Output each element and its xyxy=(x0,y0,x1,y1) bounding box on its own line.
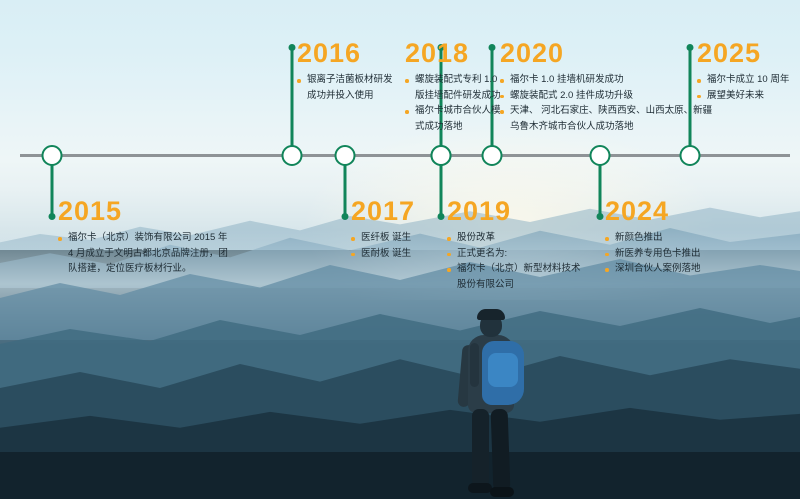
milestone-bullet: 天津、 河北石家庄、陕西西安、山西太原、新疆 xyxy=(500,104,712,119)
milestone-bullet-continuation: 乌鲁木齐城市合伙人成功落地 xyxy=(500,120,712,135)
milestone-year-label: 2017 xyxy=(351,196,415,226)
timeline-stem-dot-2024 xyxy=(597,213,604,220)
milestone-bullet: 股份改革 xyxy=(447,231,581,246)
hiker-cap xyxy=(477,309,505,320)
milestone-bullet: 银离子洁菌板材研发 xyxy=(297,73,393,88)
timeline-node-2019[interactable] xyxy=(431,145,452,166)
hiker-backpack-strap xyxy=(470,343,479,387)
hiker-boot-right xyxy=(490,487,514,497)
milestone-bullet: 螺旋装配式专利 1.0 xyxy=(405,73,501,88)
timeline-node-2020[interactable] xyxy=(482,145,503,166)
milestone-year-label: 2025 xyxy=(697,38,789,68)
milestone-bullet: 福尔卡（北京）装饰有限公司 2015 年 xyxy=(58,231,228,246)
milestone-bullet: 福尔卡（北京）新型材料技术 xyxy=(447,262,581,277)
milestone-bullet-list: 福尔卡 1.0 挂墙机研发成功螺旋装配式 2.0 挂件成功升级天津、 河北石家庄… xyxy=(500,73,712,134)
milestone-year-label: 2015 xyxy=(58,196,228,226)
milestone-bullet: 福尔卡城市合伙人模 xyxy=(405,104,501,119)
hiker-leg-left xyxy=(472,409,489,487)
timeline-node-2016[interactable] xyxy=(282,145,303,166)
hiker-backpack-panel xyxy=(488,353,518,387)
timeline-stem-dot-2019 xyxy=(438,213,445,220)
milestone-bullet-list: 福尔卡成立 10 周年展望美好未来 xyxy=(697,73,789,103)
milestone-bullet: 展望美好未来 xyxy=(697,89,789,104)
timeline-node-2017[interactable] xyxy=(335,145,356,166)
milestone-bullet: 螺旋装配式 2.0 挂件成功升级 xyxy=(500,89,712,104)
milestone-bullet: 正式更名为: xyxy=(447,247,581,262)
timeline-stem-2016 xyxy=(291,48,294,155)
milestone-bullet: 新医养专用色卡推出 xyxy=(605,247,701,262)
milestone-bullet: 医耐板 诞生 xyxy=(351,247,415,262)
milestone-2019: 2019股份改革正式更名为:福尔卡（北京）新型材料技术股份有限公司 xyxy=(447,196,581,293)
mountain-ridge-7 xyxy=(0,452,800,499)
milestone-2018: 2018螺旋装配式专利 1.0版挂墙配件研发成功福尔卡城市合伙人模式成功落地 xyxy=(405,38,501,135)
milestone-bullet: 医纤板 诞生 xyxy=(351,231,415,246)
milestone-bullet-list: 螺旋装配式专利 1.0版挂墙配件研发成功福尔卡城市合伙人模式成功落地 xyxy=(405,73,501,134)
milestone-2015: 2015福尔卡（北京）装饰有限公司 2015 年4 月成立于文明古都北京品牌注册… xyxy=(58,196,228,278)
milestone-bullet: 新颜色推出 xyxy=(605,231,701,246)
milestone-bullet-continuation: 队搭建，定位医疗板材行业。 xyxy=(58,262,228,277)
milestone-bullet-list: 新颜色推出新医养专用色卡推出深圳合伙人案例落地 xyxy=(605,231,701,277)
timeline-node-2025[interactable] xyxy=(680,145,701,166)
milestone-year-label: 2024 xyxy=(605,196,701,226)
milestone-bullet: 深圳合伙人案例落地 xyxy=(605,262,701,277)
timeline-node-2015[interactable] xyxy=(42,145,63,166)
timeline-node-2024[interactable] xyxy=(590,145,611,166)
milestone-year-label: 2019 xyxy=(447,196,581,226)
milestone-2016: 2016银离子洁菌板材研发成功并投入使用 xyxy=(297,38,393,104)
milestone-bullet-continuation: 成功并投入使用 xyxy=(297,89,393,104)
milestone-bullet-list: 股份改革正式更名为:福尔卡（北京）新型材料技术股份有限公司 xyxy=(447,231,581,292)
milestone-bullet-continuation: 版挂墙配件研发成功 xyxy=(405,89,501,104)
milestone-bullet: 福尔卡 1.0 挂墙机研发成功 xyxy=(500,73,712,88)
milestone-bullet: 福尔卡成立 10 周年 xyxy=(697,73,789,88)
hiker-leg-right xyxy=(491,409,511,492)
hiker-boot-left xyxy=(468,483,492,493)
timeline-axis xyxy=(20,154,790,157)
milestone-bullet-list: 银离子洁菌板材研发成功并投入使用 xyxy=(297,73,393,103)
timeline-stem-dot-2017 xyxy=(342,213,349,220)
milestone-bullet-continuation: 股份有限公司 xyxy=(447,278,581,293)
milestone-2024: 2024新颜色推出新医养专用色卡推出深圳合伙人案例落地 xyxy=(605,196,701,278)
hiker-silhouette xyxy=(430,305,550,499)
milestone-2025: 2025福尔卡成立 10 周年展望美好未来 xyxy=(697,38,789,104)
milestone-bullet-list: 医纤板 诞生医耐板 诞生 xyxy=(351,231,415,261)
infographic-canvas: 2015福尔卡（北京）装饰有限公司 2015 年4 月成立于文明古都北京品牌注册… xyxy=(0,0,800,499)
milestone-bullet-continuation: 4 月成立于文明古都北京品牌注册，团 xyxy=(58,247,228,262)
milestone-2020: 2020福尔卡 1.0 挂墙机研发成功螺旋装配式 2.0 挂件成功升级天津、 河… xyxy=(500,38,712,135)
milestone-2017: 2017医纤板 诞生医耐板 诞生 xyxy=(351,196,415,262)
milestone-bullet-continuation: 式成功落地 xyxy=(405,120,501,135)
milestone-year-label: 2020 xyxy=(500,38,712,68)
timeline-stem-dot-2015 xyxy=(49,213,56,220)
milestone-year-label: 2016 xyxy=(297,38,393,68)
timeline-stem-dot-2016 xyxy=(289,44,296,51)
milestone-year-label: 2018 xyxy=(405,38,501,68)
milestone-bullet-list: 福尔卡（北京）装饰有限公司 2015 年4 月成立于文明古都北京品牌注册，团队搭… xyxy=(58,231,228,277)
